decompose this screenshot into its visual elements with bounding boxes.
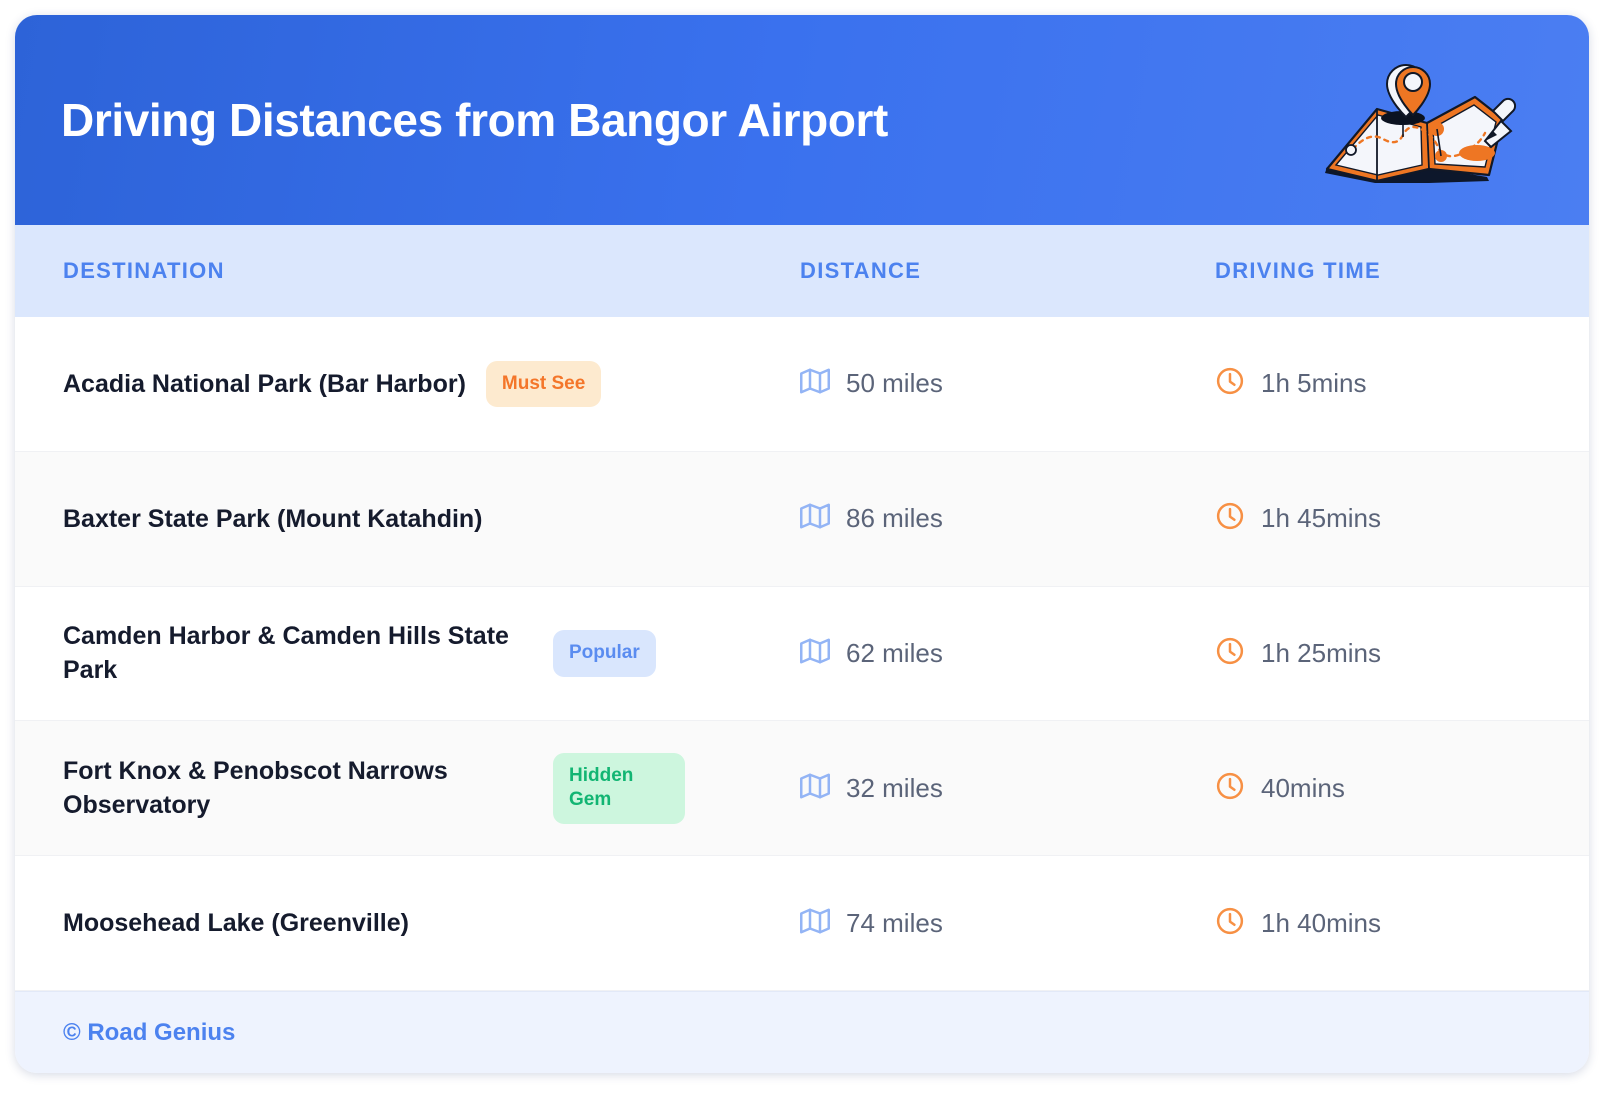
distance-cell: 74 miles <box>800 906 1215 941</box>
column-header-distance: DISTANCE <box>800 258 1215 284</box>
map-icon <box>800 636 830 671</box>
driving-time-cell: 1h 25mins <box>1215 636 1589 671</box>
driving-time-cell: 1h 5mins <box>1215 366 1589 401</box>
table-body: Acadia National Park (Bar Harbor) Must S… <box>15 317 1589 991</box>
distance-table-card: Driving Distances from Bangor Airport <box>15 15 1589 1073</box>
column-header-destination: DESTINATION <box>15 258 800 284</box>
card-header: Driving Distances from Bangor Airport <box>15 15 1589 225</box>
map-icon <box>800 906 830 941</box>
distance-cell: 62 miles <box>800 636 1215 671</box>
distance-value: 32 miles <box>846 773 943 804</box>
distance-cell: 50 miles <box>800 366 1215 401</box>
clock-icon <box>1215 771 1245 806</box>
table-row[interactable]: Moosehead Lake (Greenville) 74 miles 1h … <box>15 856 1589 991</box>
map-icon <box>800 501 830 536</box>
destination-cell: Moosehead Lake (Greenville) <box>15 906 800 940</box>
table-header-row: DESTINATION DISTANCE DRIVING TIME <box>15 225 1589 317</box>
destination-name: Baxter State Park (Mount Katahdin) <box>63 502 483 536</box>
driving-time-cell: 40mins <box>1215 771 1589 806</box>
distance-cell: 86 miles <box>800 501 1215 536</box>
distance-value: 86 miles <box>846 503 943 534</box>
destination-name: Camden Harbor & Camden Hills State Park <box>63 619 533 688</box>
destination-cell: Acadia National Park (Bar Harbor) Must S… <box>15 361 800 408</box>
distance-value: 74 miles <box>846 908 943 939</box>
card-footer: © Road Genius <box>15 991 1589 1073</box>
status-badge: Must See <box>486 361 601 408</box>
column-header-distance-label: DISTANCE <box>800 258 921 283</box>
driving-time-value: 1h 5mins <box>1261 368 1367 399</box>
column-header-destination-label: DESTINATION <box>63 258 225 283</box>
destination-cell: Fort Knox & Penobscot Narrows Observator… <box>15 753 800 824</box>
clock-icon <box>1215 636 1245 671</box>
table-row[interactable]: Camden Harbor & Camden Hills State Park … <box>15 587 1589 722</box>
clock-icon <box>1215 906 1245 941</box>
folded-map-with-location-pin-icon <box>1317 57 1517 187</box>
destination-name: Moosehead Lake (Greenville) <box>63 906 409 940</box>
table-row[interactable]: Acadia National Park (Bar Harbor) Must S… <box>15 317 1589 452</box>
driving-time-value: 1h 25mins <box>1261 638 1381 669</box>
distance-value: 50 miles <box>846 368 943 399</box>
table-row[interactable]: Baxter State Park (Mount Katahdin) 86 mi… <box>15 452 1589 587</box>
map-icon <box>800 771 830 806</box>
table-row[interactable]: Fort Knox & Penobscot Narrows Observator… <box>15 721 1589 856</box>
map-icon <box>800 366 830 401</box>
status-badge: Hidden Gem <box>553 753 685 824</box>
destination-name: Fort Knox & Penobscot Narrows Observator… <box>63 754 533 823</box>
destination-cell: Camden Harbor & Camden Hills State Park … <box>15 619 800 688</box>
driving-time-value: 1h 45mins <box>1261 503 1381 534</box>
driving-time-cell: 1h 45mins <box>1215 501 1589 536</box>
clock-icon <box>1215 366 1245 401</box>
destination-cell: Baxter State Park (Mount Katahdin) <box>15 502 800 536</box>
clock-icon <box>1215 501 1245 536</box>
driving-time-value: 40mins <box>1261 773 1345 804</box>
distance-value: 62 miles <box>846 638 943 669</box>
destination-name: Acadia National Park (Bar Harbor) <box>63 367 466 401</box>
column-header-driving-time-label: DRIVING TIME <box>1215 258 1381 283</box>
copyright-credit[interactable]: © Road Genius <box>63 1019 235 1047</box>
column-header-driving-time: DRIVING TIME <box>1215 258 1589 284</box>
driving-time-cell: 1h 40mins <box>1215 906 1589 941</box>
distance-cell: 32 miles <box>800 771 1215 806</box>
status-badge: Popular <box>553 630 656 677</box>
driving-time-value: 1h 40mins <box>1261 908 1381 939</box>
page-title: Driving Distances from Bangor Airport <box>61 95 888 146</box>
